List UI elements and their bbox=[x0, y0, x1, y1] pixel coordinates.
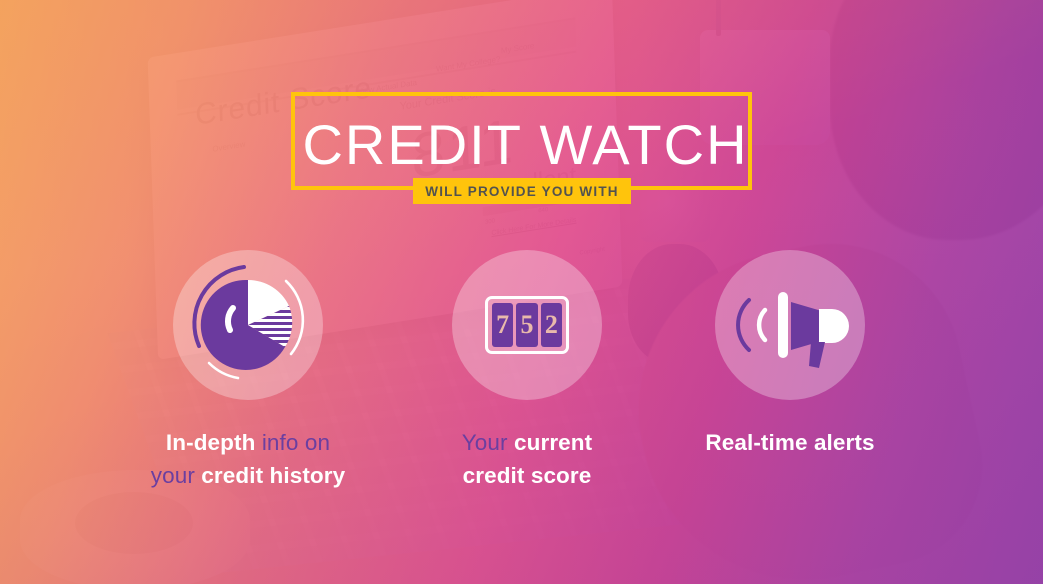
megaphone-icon bbox=[715, 250, 865, 400]
feature-caption: In-depth info on your credit history bbox=[118, 426, 378, 493]
caption-bold-1: In-depth bbox=[166, 430, 256, 455]
subtitle-ribbon: WILL PROVIDE YOU WITH bbox=[413, 178, 631, 204]
caption-bold-1: Real-time alerts bbox=[705, 430, 874, 455]
score-digit-tile: 5 bbox=[516, 303, 537, 347]
feature-icon-circle bbox=[715, 250, 865, 400]
feature-row: In-depth info on your credit history 7 5… bbox=[0, 250, 1043, 510]
feature-icon-circle bbox=[173, 250, 323, 400]
credit-watch-promo-slide: Credit Score View Actual Data Want My Co… bbox=[0, 0, 1043, 584]
feature-item-credit-history: In-depth info on your credit history bbox=[118, 250, 378, 493]
caption-light-1: info on bbox=[262, 430, 330, 455]
caption-bold-2: credit score bbox=[463, 463, 592, 488]
pie-chart-icon bbox=[173, 250, 323, 400]
feature-caption: Your current credit score bbox=[397, 426, 657, 493]
score-digit-tile: 2 bbox=[541, 303, 562, 347]
title-frame: CREDIT WATCH bbox=[291, 92, 752, 190]
credit-score-counter-icon: 7 5 2 bbox=[485, 296, 569, 354]
feature-item-credit-score: 7 5 2 Your current credit score bbox=[397, 250, 657, 493]
feature-icon-circle: 7 5 2 bbox=[452, 250, 602, 400]
feature-caption: Real-time alerts bbox=[660, 426, 920, 459]
feature-item-alerts: Real-time alerts bbox=[660, 250, 920, 459]
score-digit-tile: 7 bbox=[492, 303, 513, 347]
caption-light-1: Your bbox=[462, 430, 508, 455]
caption-bold-2: credit history bbox=[201, 463, 345, 488]
caption-light-2: your bbox=[151, 463, 195, 488]
caption-bold-1: current bbox=[514, 430, 592, 455]
